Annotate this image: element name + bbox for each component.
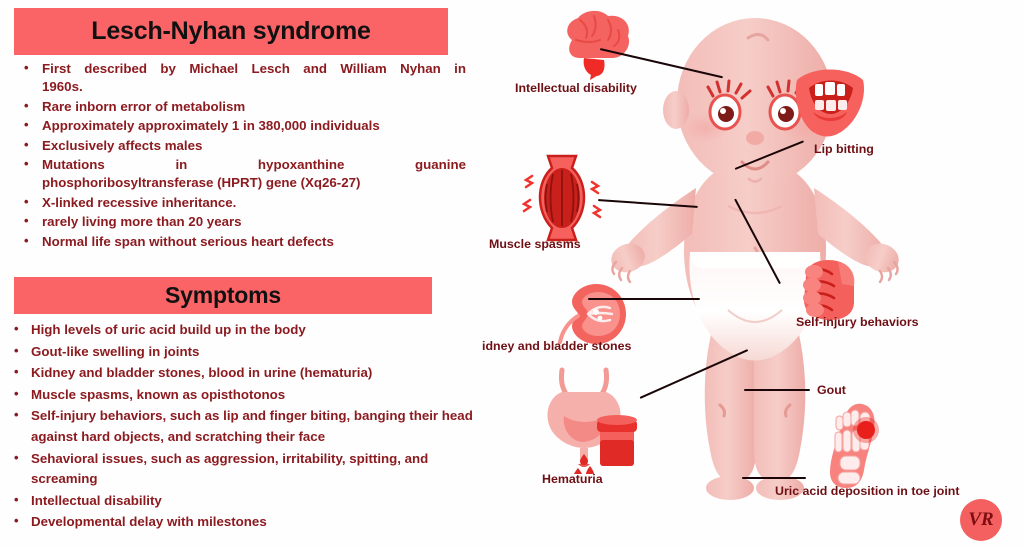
list-item: High levels of uric acid build up in the… (10, 320, 480, 341)
label-lip-bitting: Lip bitting (814, 142, 874, 156)
facts-list: First described by Michael Lesch and Wil… (18, 60, 466, 252)
label-hematuria: Hematuria (542, 472, 603, 486)
list-item: First described by Michael Lesch and Wil… (18, 60, 466, 97)
list-item: rarely living more than 20 years (18, 213, 466, 231)
brain-icon (550, 6, 640, 86)
list-item: X-linked recessive inheritance. (18, 194, 466, 212)
fact-line-2: phosphoribosyltransferase (HPRT) gene (X… (42, 174, 466, 192)
fact-line-1: Mutations in hypoxanthine guanine (42, 156, 466, 174)
list-item: Approximately approximately 1 in 380,000… (18, 117, 466, 135)
list-item: Kidney and bladder stones, blood in urin… (10, 363, 480, 384)
label-self-injury-behaviors: Self-injury behaviors (796, 315, 919, 329)
list-item: Rare inborn error of metabolism (18, 98, 466, 116)
kidney-icon (552, 282, 630, 346)
list-item: Self-injury behaviors, such as lip and f… (10, 406, 480, 447)
slide-canvas: Lesch-Nyhan syndrome First described by … (0, 0, 1024, 549)
list-item: Sehavioral issues, such as aggression, i… (10, 449, 480, 490)
leader-line-gout (744, 389, 810, 391)
fact-line-2: 1960s. (42, 78, 466, 96)
list-item: Developmental delay with milestones (10, 512, 480, 533)
list-item: Normal life span without serious heart d… (18, 233, 466, 251)
label-kidney-bladder-stones: idney and bladder stones (482, 339, 631, 353)
leader-line-kidney-stones (588, 298, 700, 300)
list-item: Mutations in hypoxanthine guanine phosph… (18, 156, 466, 193)
label-uric-acid-toe-joint: Uric acid deposition in toe joint (775, 484, 960, 498)
muscle-icon (522, 152, 602, 244)
title-banner: Lesch-Nyhan syndrome (14, 8, 448, 55)
label-gout: Gout (817, 383, 846, 397)
left-text-column: Lesch-Nyhan syndrome First described by … (0, 0, 480, 549)
list-item: Gout-like swelling in joints (10, 342, 480, 363)
fist-icon (798, 258, 860, 322)
mouth-biting-icon (785, 62, 875, 144)
list-item: Muscle spasms, known as opisthotonos (10, 385, 480, 406)
fact-line-1: First described by Michael Lesch and Wil… (42, 60, 466, 78)
label-muscle-spasms: Muscle spasms (489, 237, 581, 251)
list-item: Intellectual disability (10, 491, 480, 512)
vr-watermark-logo: VR (960, 499, 1002, 541)
bladder-urine-sample-icon (532, 364, 644, 474)
symptoms-banner: Symptoms (14, 277, 432, 314)
page-title: Lesch-Nyhan syndrome (91, 17, 370, 46)
symptoms-heading: Symptoms (165, 282, 281, 309)
vr-watermark-text: VR (968, 509, 993, 531)
list-item: Exclusively affects males (18, 137, 466, 155)
leader-line-uric-acid (742, 477, 806, 479)
anatomy-diagram: Intellectual disability Lip bitting Musc… (480, 0, 1024, 549)
foot-bones-icon (822, 400, 884, 492)
label-intellectual-disability: Intellectual disability (515, 81, 637, 95)
symptoms-list: High levels of uric acid build up in the… (10, 320, 480, 534)
